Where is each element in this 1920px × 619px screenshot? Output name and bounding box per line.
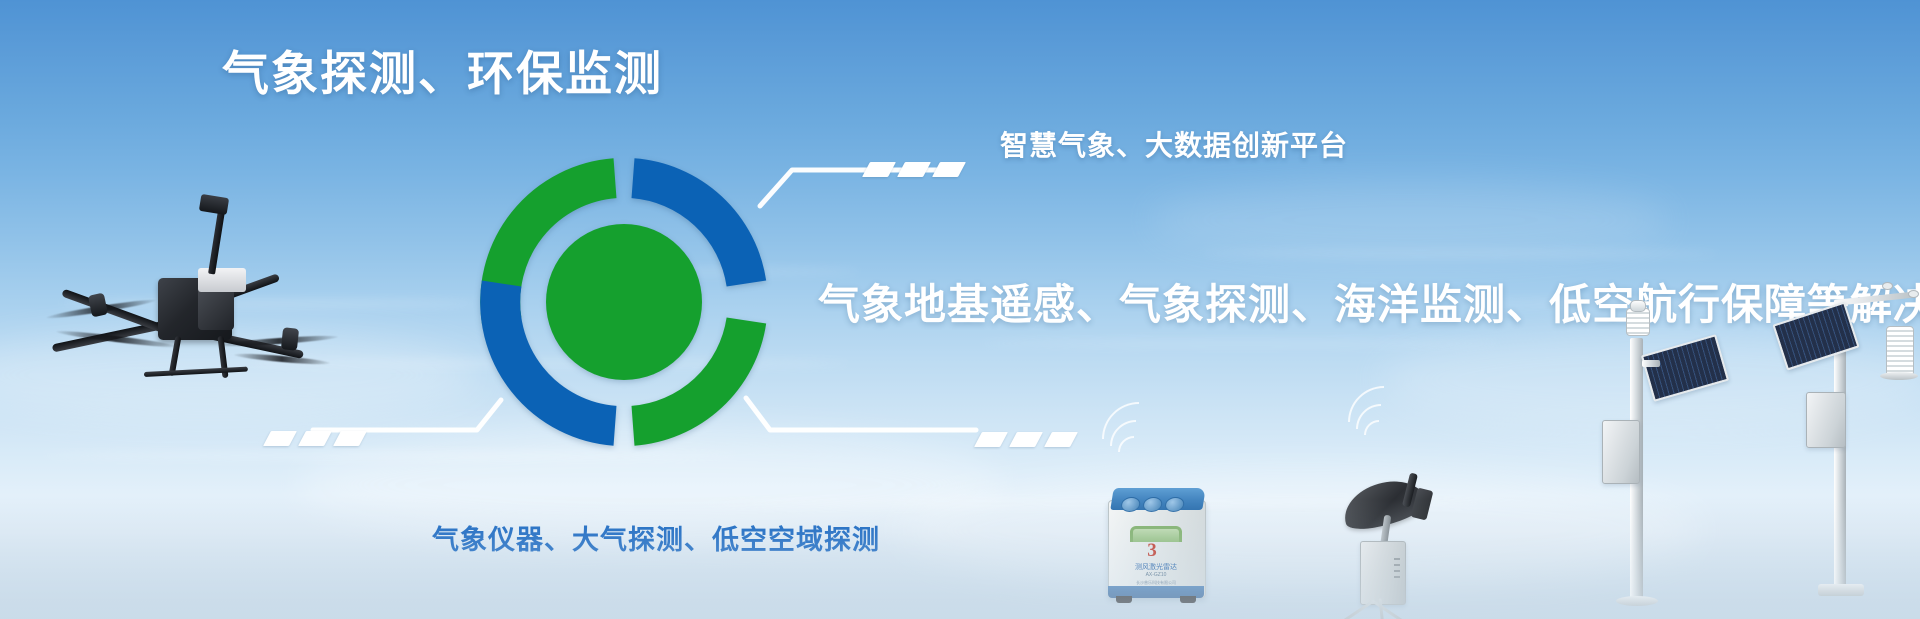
signal-waves [1350, 370, 1440, 450]
solar-panel [1641, 334, 1729, 402]
mast-base-plate [1616, 596, 1658, 606]
dash-mark [932, 162, 966, 177]
lidar-lens [1142, 497, 1163, 512]
dash-mark [333, 431, 367, 446]
lidar-foot [1180, 596, 1196, 603]
wave-arc [1087, 387, 1192, 492]
connector-line-bottom-right [742, 396, 992, 468]
lidar-model: AX-GZ10 [1102, 572, 1210, 578]
ring-diagram [474, 152, 774, 452]
lidar-lens [1164, 497, 1185, 512]
dash-marks-bottom-left [267, 431, 363, 446]
signal-waves [1108, 390, 1198, 470]
shield-base [1880, 372, 1918, 380]
lead-text: 气象地基遥感、气象探测、海洋监测、低空航行保障等解决方案 [818, 271, 1920, 332]
wave-arc [1099, 409, 1173, 483]
mast-top-sensor [1630, 300, 1646, 312]
drone-mast-head [199, 194, 229, 215]
dash-mark [263, 431, 297, 446]
anemometer-cup [1908, 290, 1919, 298]
lidar-title: 测风激光雷达 [1102, 562, 1210, 572]
wave-arc [1333, 371, 1435, 473]
hero-banner: 气象探测、环保监测 智慧气象、大数据创新平台 [0, 0, 1920, 619]
dash-mark [862, 162, 896, 177]
cloud-wisp [980, 340, 1500, 347]
wave-arc [1358, 414, 1400, 456]
lidar-foot [1116, 596, 1132, 603]
dash-marks-top [866, 162, 962, 177]
dash-mark [1044, 432, 1078, 447]
wave-arc [1346, 394, 1417, 465]
connector-line-top-right [756, 152, 956, 210]
survey-drone [48, 196, 318, 376]
dash-mark [298, 431, 332, 446]
callout-top-label: 智慧气象、大数据创新平台 [1000, 124, 1348, 164]
tripod-leg [1328, 599, 1374, 619]
anemometer-cup [1882, 282, 1893, 290]
controller-vent [1394, 558, 1400, 560]
drone-payload [198, 268, 246, 292]
cloud-wisp [40, 452, 740, 459]
dash-marks-bottom-right [978, 432, 1074, 447]
drone-mast [208, 204, 226, 274]
dash-mark [1009, 432, 1043, 447]
drone-motor [281, 327, 299, 351]
lidar-logo: 3 [1140, 540, 1164, 562]
mast-base-plate [1818, 584, 1864, 596]
cloud-wisp [1200, 250, 1720, 257]
radiation-shield [1626, 308, 1650, 336]
crossarm [1834, 291, 1918, 306]
equipment-box [1806, 392, 1846, 448]
drone-skid [144, 367, 248, 377]
dash-mark [897, 162, 931, 177]
automatic-weather-station [1790, 276, 1920, 619]
ring-inner-disc [546, 224, 702, 380]
dish-controller [1360, 541, 1406, 605]
radar-dish-tripod [1330, 467, 1460, 612]
dash-mark [974, 432, 1008, 447]
cloud-decoration [900, 470, 1700, 590]
drone-body-side [198, 286, 234, 330]
lidar-lens [1120, 497, 1141, 512]
drone-motor [88, 293, 108, 318]
controller-vent [1394, 576, 1400, 578]
callout-bottom-label: 气象仪器、大气探测、低空空域探测 [432, 518, 880, 557]
panel-bracket [1642, 360, 1660, 367]
equipment-box [1602, 420, 1640, 484]
page-title: 气象探测、环保监测 [222, 48, 663, 100]
wave-arc [1111, 429, 1156, 474]
lidar-top-panel [1110, 488, 1205, 510]
controller-vent [1394, 570, 1400, 572]
wind-lidar: 3 测风激光雷达 AX-GZ10 长沙普乐科技有限公司 [1102, 482, 1210, 604]
solar-weather-mast [1598, 300, 1728, 619]
radiation-shield [1886, 326, 1914, 376]
controller-vent [1394, 564, 1400, 566]
cloud-decoration [1150, 180, 1670, 260]
